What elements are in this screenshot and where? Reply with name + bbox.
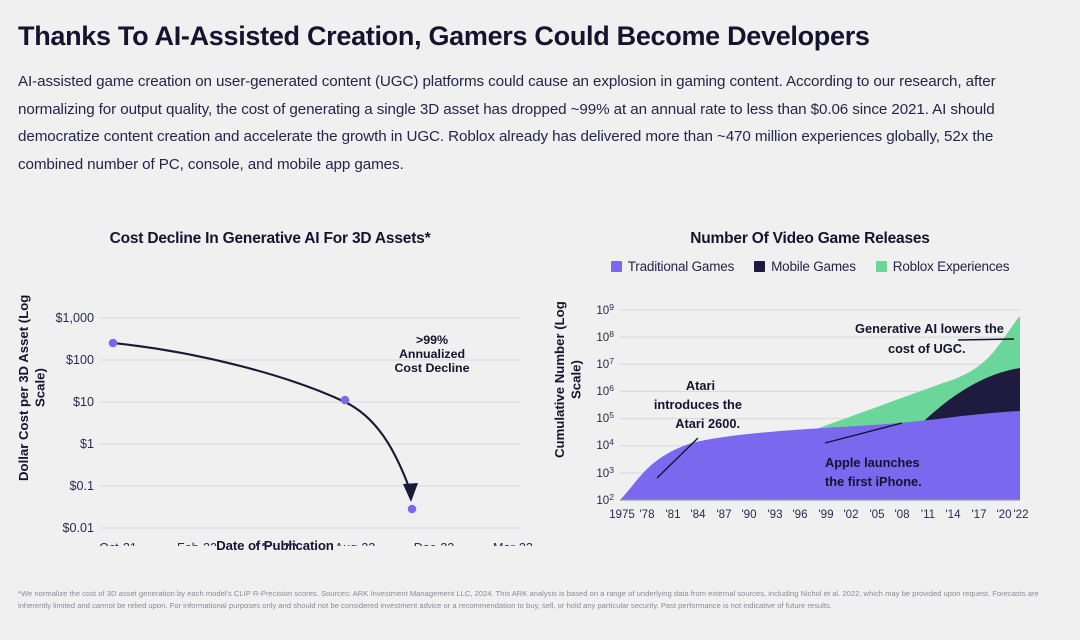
page-title: Thanks To AI-Assisted Creation, Gamers C… — [18, 22, 1058, 52]
svg-text:$1,000: $1,000 — [55, 311, 94, 325]
svg-text:'96: '96 — [792, 508, 807, 521]
svg-text:Mar-23: Mar-23 — [493, 541, 533, 546]
svg-text:'22: '22 — [1013, 508, 1028, 521]
svg-text:$0.1: $0.1 — [69, 479, 94, 493]
legend-swatch-mobile-games — [754, 261, 765, 272]
chart-title-cost-decline: Cost Decline In Generative AI For 3D Ass… — [0, 230, 540, 248]
svg-text:Apple launches: Apple launches — [825, 455, 920, 470]
svg-text:'05: '05 — [869, 508, 884, 521]
x-tick-labels-left: Oct-21 Feb-22 May-22 Aug-22 Dec-22 Mar-2… — [99, 541, 533, 546]
x-tick-labels-right: 1975 '78 '81 '84 '87 '90 '93 '96 '99 '02… — [609, 508, 1028, 521]
svg-text:$1: $1 — [80, 437, 94, 451]
svg-text:'81: '81 — [665, 508, 680, 521]
svg-text:cost of UGC.: cost of UGC. — [888, 341, 966, 356]
legend-item-traditional-games[interactable]: Traditional Games — [611, 259, 734, 274]
body-paragraph: AI-assisted game creation on user-genera… — [18, 68, 1052, 179]
svg-text:Atari 2600.: Atari 2600. — [675, 416, 740, 431]
svg-text:102: 102 — [596, 492, 614, 507]
svg-text:May-22: May-22 — [255, 541, 297, 546]
svg-text:'90: '90 — [741, 508, 756, 521]
legend-swatch-roblox-experiences — [876, 261, 887, 272]
annotation-cost-decline: >99% Annualized Cost Decline — [394, 333, 469, 375]
trend-curve — [113, 343, 410, 490]
chart-legend: Traditional Games Mobile Games Roblox Ex… — [540, 259, 1080, 274]
svg-text:'99: '99 — [818, 508, 833, 521]
svg-text:107: 107 — [596, 356, 614, 371]
chart-svg-cost-decline: $1,000 $100 $10 $1 $0.1 $0.01 Oct-21 Feb… — [0, 256, 540, 546]
svg-text:104: 104 — [596, 437, 614, 452]
svg-text:'20: '20 — [996, 508, 1011, 521]
slide-root: Thanks To AI-Assisted Creation, Gamers C… — [0, 0, 1080, 640]
svg-text:'11: '11 — [921, 508, 935, 521]
chart-svg-video-game-releases: 109 108 107 106 105 104 103 102 — [540, 280, 1080, 540]
svg-text:'87: '87 — [716, 508, 731, 521]
svg-text:'93: '93 — [767, 508, 782, 521]
svg-text:>99%: >99% — [416, 333, 448, 347]
svg-text:$10: $10 — [73, 395, 94, 409]
annotation-generative-ai: Generative AI lowers the cost of UGC. — [855, 321, 1014, 356]
legend-item-roblox-experiences[interactable]: Roblox Experiences — [876, 259, 1009, 274]
svg-text:Atari: Atari — [686, 378, 715, 393]
legend-label-traditional-games: Traditional Games — [628, 259, 734, 274]
svg-text:'78: '78 — [639, 508, 654, 521]
svg-text:106: 106 — [596, 383, 614, 398]
y-tick-labels-left: $1,000 $100 $10 $1 $0.1 $0.01 — [55, 311, 94, 535]
svg-text:'08: '08 — [894, 508, 909, 521]
svg-text:'17: '17 — [971, 508, 986, 521]
svg-text:103: 103 — [596, 465, 614, 480]
svg-text:105: 105 — [596, 410, 614, 425]
svg-text:'14: '14 — [945, 508, 961, 521]
svg-text:the first iPhone.: the first iPhone. — [825, 474, 922, 489]
svg-text:Aug-22: Aug-22 — [335, 541, 376, 546]
footnote: *We normalize the cost of 3D asset gener… — [18, 588, 1063, 611]
data-points-left — [109, 339, 417, 514]
trend-arrowhead — [403, 483, 418, 502]
svg-text:Cost Decline: Cost Decline — [394, 361, 469, 375]
svg-text:introduces the: introduces the — [654, 397, 742, 412]
y-tick-labels-right: 109 108 107 106 105 104 103 102 — [596, 302, 614, 507]
svg-text:$100: $100 — [66, 353, 94, 367]
chart-panel-video-game-releases: Number Of Video Game Releases Traditiona… — [540, 218, 1080, 578]
svg-text:'84: '84 — [690, 508, 706, 521]
svg-text:Dec-22: Dec-22 — [414, 541, 455, 546]
svg-text:108: 108 — [596, 329, 614, 344]
svg-text:109: 109 — [596, 302, 614, 317]
svg-text:Oct-21: Oct-21 — [99, 541, 137, 546]
svg-text:1975: 1975 — [609, 508, 635, 521]
chart-title-video-game-releases: Number Of Video Game Releases — [540, 230, 1080, 248]
legend-label-mobile-games: Mobile Games — [771, 259, 856, 274]
svg-text:'02: '02 — [843, 508, 858, 521]
chart-panel-cost-decline: Cost Decline In Generative AI For 3D Ass… — [0, 218, 540, 578]
legend-label-roblox-experiences: Roblox Experiences — [893, 259, 1009, 274]
svg-text:Annualized: Annualized — [399, 347, 465, 361]
legend-item-mobile-games[interactable]: Mobile Games — [754, 259, 856, 274]
svg-text:Generative AI lowers the: Generative AI lowers the — [855, 321, 1004, 336]
legend-swatch-traditional-games — [611, 261, 622, 272]
svg-text:Feb-22: Feb-22 — [177, 541, 217, 546]
svg-text:$0.01: $0.01 — [62, 521, 94, 535]
